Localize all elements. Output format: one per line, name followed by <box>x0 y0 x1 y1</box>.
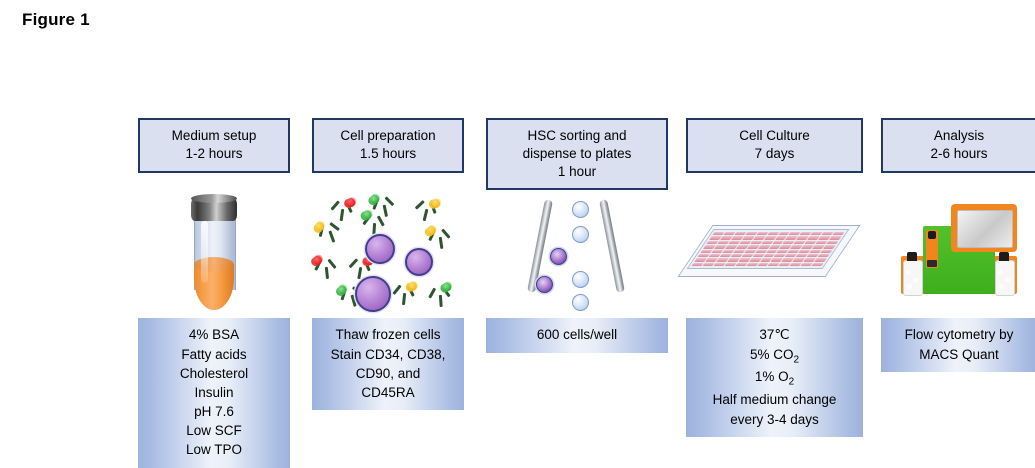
detail-line: MACS Quant <box>886 345 1032 364</box>
workflow-diagram: Medium setup 1-2 hours 4% BSA Fatty acid… <box>138 118 1035 457</box>
header-line: Medium setup <box>144 127 284 145</box>
microplate-icon <box>700 223 850 285</box>
page-title: Figure 1 <box>22 10 90 30</box>
deflection-plate-right <box>599 200 625 294</box>
detail-line: 5% CO2 <box>691 345 858 368</box>
step-details-hsc-sorting: 600 cells/well <box>486 318 668 352</box>
detail-line: CD90, and <box>317 364 459 383</box>
step-illustration-analysis <box>881 190 1035 318</box>
step-header-hsc-sorting: HSC sorting and dispense to plates 1 hou… <box>486 118 668 190</box>
detail-line: 1% O2 <box>691 367 858 390</box>
header-line: 7 days <box>692 145 857 163</box>
cell-sorter-icon <box>516 193 638 315</box>
header-line: dispense to plates <box>492 145 662 163</box>
cell-icon <box>355 276 391 312</box>
header-line: 1-2 hours <box>144 145 284 163</box>
antibody-staining-icon <box>317 192 459 316</box>
detail-line: Cholesterol <box>143 364 285 383</box>
step-illustration-medium-setup <box>138 190 290 318</box>
step-details-cell-preparation: Thaw frozen cells Stain CD34, CD38, CD90… <box>312 318 464 410</box>
detail-line: every 3-4 days <box>691 410 858 429</box>
detail-line: Insulin <box>143 383 285 402</box>
step-header-medium-setup: Medium setup 1-2 hours <box>138 118 290 173</box>
step-illustration-hsc-sorting <box>486 190 668 318</box>
step-details-cell-culture: 37℃ 5% CO2 1% O2 Half medium change ever… <box>686 318 863 436</box>
header-line: 1 hour <box>492 163 662 181</box>
detail-line: Low SCF <box>143 421 285 440</box>
step-illustration-cell-culture <box>686 190 863 318</box>
step-details-medium-setup: 4% BSA Fatty acids Cholesterol Insulin p… <box>138 318 290 467</box>
conical-tube-icon <box>188 198 240 310</box>
detail-line: Stain CD34, CD38, <box>317 345 459 364</box>
header-line: Analysis <box>887 127 1031 145</box>
step-header-cell-preparation: Cell preparation 1.5 hours <box>312 118 464 173</box>
step-details-analysis: Flow cytometry by MACS Quant <box>881 318 1035 371</box>
header-line: 1.5 hours <box>318 145 458 163</box>
detail-line: pH 7.6 <box>143 402 285 421</box>
detail-line: Thaw frozen cells <box>317 325 459 344</box>
header-line: Cell Culture <box>692 127 857 145</box>
step-illustration-cell-preparation <box>312 190 464 318</box>
flow-cytometer-icon <box>895 204 1023 304</box>
cell-icon <box>405 248 433 276</box>
header-line: HSC sorting and <box>492 127 662 145</box>
cell-icon <box>365 234 395 264</box>
detail-line: 600 cells/well <box>491 325 663 344</box>
detail-line: CD45RA <box>317 383 459 402</box>
detail-line: 37℃ <box>691 325 858 344</box>
header-line: Cell preparation <box>318 127 458 145</box>
step-header-cell-culture: Cell Culture 7 days <box>686 118 863 173</box>
detail-line: Flow cytometry by <box>886 325 1032 344</box>
detail-line: Fatty acids <box>143 345 285 364</box>
header-line: 2-6 hours <box>887 145 1031 163</box>
detail-line: 4% BSA <box>143 325 285 344</box>
step-header-analysis: Analysis 2-6 hours <box>881 118 1035 173</box>
detail-line: Half medium change <box>691 390 858 409</box>
